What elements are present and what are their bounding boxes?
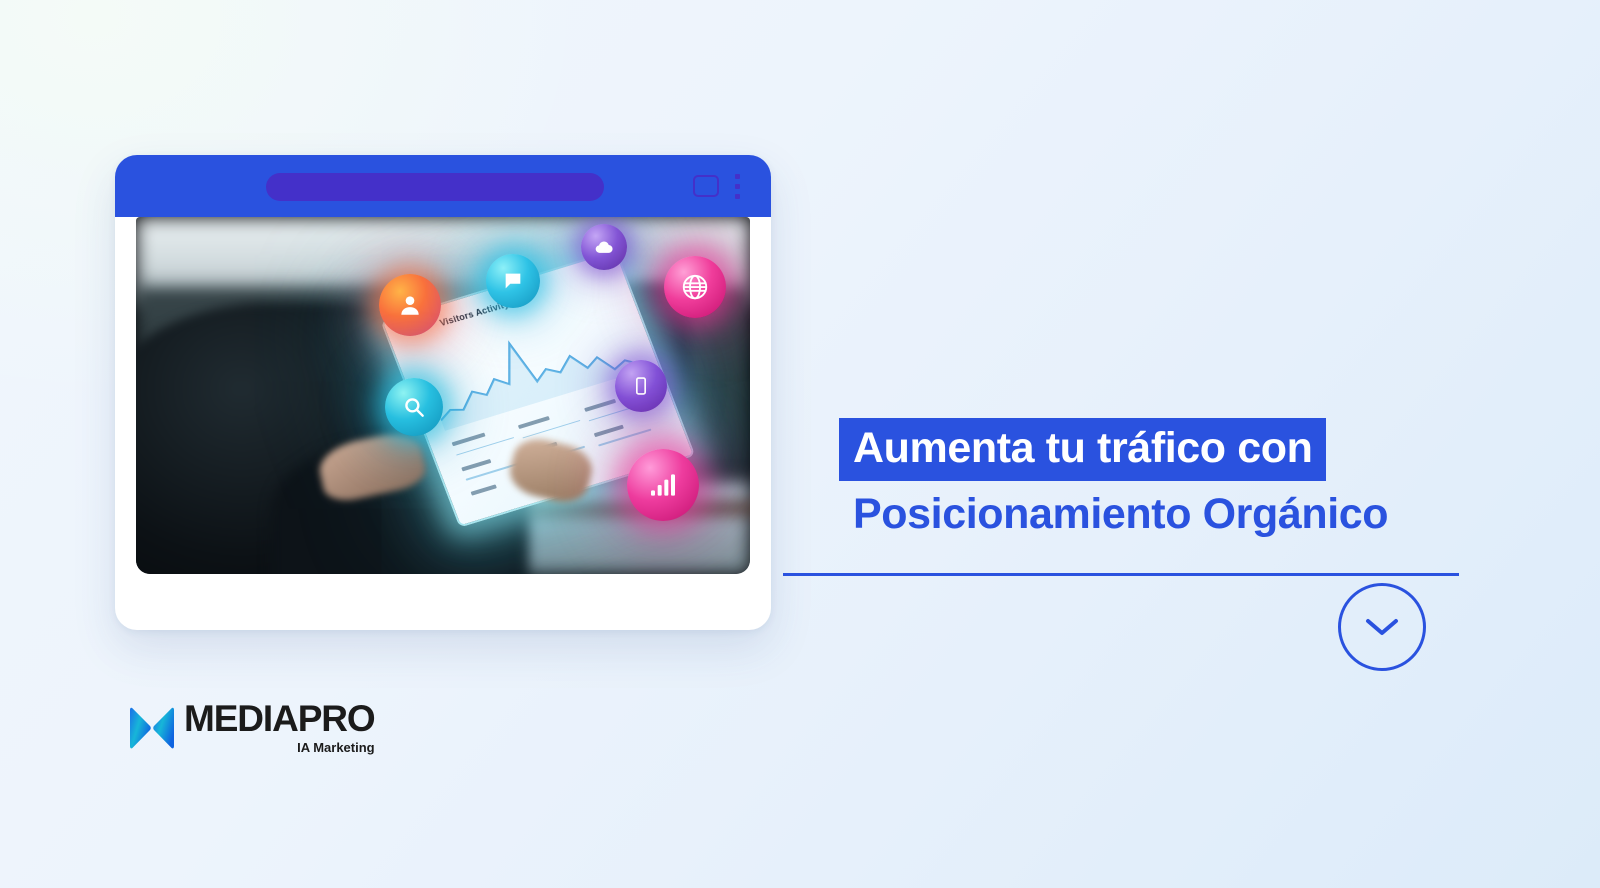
- user-icon: [379, 274, 441, 336]
- brand-logo[interactable]: MEDIAPRO IA Marketing: [126, 700, 375, 756]
- headline-line-1: Aumenta tu tráfico con: [839, 418, 1326, 481]
- globe-icon: [664, 256, 726, 318]
- logo-tagline: IA Marketing: [297, 740, 375, 755]
- headline-divider: [783, 573, 1459, 576]
- browser-window-mockup: Visitors Activity: [115, 155, 771, 630]
- search-icon: [385, 378, 443, 436]
- mobile-icon: [615, 360, 667, 412]
- headline-block: Aumenta tu tráfico con Posicionamiento O…: [839, 418, 1559, 537]
- browser-chrome-bar: [115, 155, 771, 217]
- poster-canvas: Visitors Activity: [0, 0, 1600, 888]
- headline-line-2: Posicionamiento Orgánico: [839, 481, 1559, 537]
- chevron-down-icon: [1362, 614, 1402, 640]
- bar-chart-icon: [627, 449, 699, 521]
- url-bar[interactable]: [266, 173, 604, 201]
- logo-wordmark: MEDIAPRO: [184, 700, 375, 737]
- mediapro-bowtie-mark: [126, 704, 178, 756]
- hero-photo: Visitors Activity: [136, 217, 750, 574]
- window-restore-icon[interactable]: [693, 175, 719, 197]
- cloud-icon: [581, 224, 627, 270]
- scroll-down-button[interactable]: [1338, 583, 1426, 671]
- kebab-menu-icon[interactable]: [735, 174, 740, 199]
